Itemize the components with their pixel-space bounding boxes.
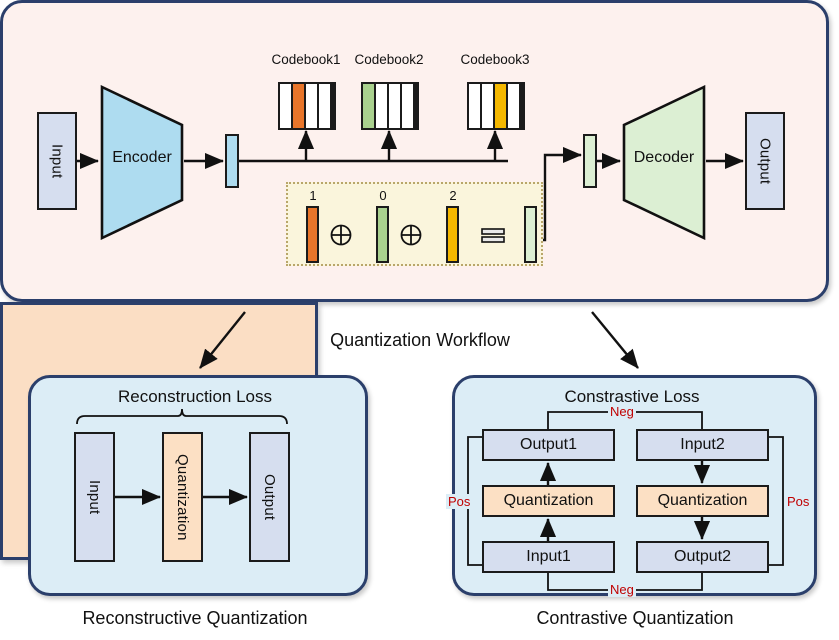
encoder-label: Encoder [100, 149, 184, 167]
pos-tag-right: Pos [785, 494, 811, 509]
decoder-label: Decoder [622, 149, 706, 167]
codebook2-slot [376, 84, 387, 128]
contrast-input2-label: Input2 [680, 436, 724, 454]
recon-quantization-label: Quantization [174, 454, 191, 541]
neg-tag-bottom: Neg [608, 582, 636, 597]
codebook2-slot [389, 84, 400, 128]
code-number-3: 2 [443, 188, 463, 203]
codebook2-slot [402, 84, 413, 128]
contrast-output2-label: Output2 [674, 548, 731, 566]
codebook1-slot [280, 84, 291, 128]
contrast-output1-box: Output1 [482, 429, 615, 461]
diagram-canvas: Encoder Decoder Input Output Codebook1 C… [0, 0, 839, 640]
decoder-block: Decoder [622, 85, 706, 240]
codebook2-title: Codebook2 [342, 52, 436, 67]
pos-tag-left: Pos [446, 494, 472, 509]
code-bar-2 [376, 206, 389, 263]
codebook1-slot [306, 84, 317, 128]
recon-quantization-box: Quantization [162, 432, 203, 562]
combined-code-bar [524, 206, 537, 263]
codebook1-slot [319, 84, 330, 128]
recon-input-label: Input [86, 480, 103, 514]
codebook3-grid [467, 82, 525, 130]
neg-tag-top: Neg [608, 404, 636, 419]
codebook3-title: Codebook3 [448, 52, 542, 67]
workflow-input-label: Input [49, 144, 66, 178]
workflow-input-box: Input [37, 112, 77, 210]
contrast-quantization1-box: Quantization [482, 485, 615, 517]
workflow-output-label: Output [757, 138, 774, 184]
recon-output-box: Output [249, 432, 290, 562]
reconstructive-caption: Reconstructive Quantization [30, 608, 360, 629]
workflow-output-box: Output [745, 112, 785, 210]
contrast-input1-box: Input1 [482, 541, 615, 573]
contrast-quantization2-label: Quantization [658, 492, 748, 510]
contrast-output2-box: Output2 [636, 541, 769, 573]
contrast-quantization1-label: Quantization [504, 492, 594, 510]
workflow-caption: Quantization Workflow [280, 330, 560, 351]
code-bar-3 [446, 206, 459, 263]
encoder-block: Encoder [100, 85, 184, 240]
contrastive-caption: Contrastive Quantization [460, 608, 810, 629]
recon-input-box: Input [74, 432, 115, 562]
encoder-latent-bar [225, 134, 239, 188]
code-number-2: 0 [373, 188, 393, 203]
code-number-1: 1 [303, 188, 323, 203]
codebook2-slot [363, 84, 374, 128]
codebook2-grid [361, 82, 419, 130]
contrast-output1-label: Output1 [520, 436, 577, 454]
code-combination-region [286, 182, 543, 266]
decoder-latent-bar [583, 134, 597, 188]
codebook3-slot [482, 84, 493, 128]
codebook1-title: Codebook1 [259, 52, 353, 67]
codebook1-grid [278, 82, 336, 130]
codebook3-slot [495, 84, 506, 128]
codebook3-slot [508, 84, 519, 128]
codebook3-slot [469, 84, 480, 128]
code-bar-1 [306, 206, 319, 263]
contrast-quantization2-box: Quantization [636, 485, 769, 517]
contrast-input1-label: Input1 [526, 548, 570, 566]
reconstruction-loss-title: Reconstruction Loss [48, 387, 342, 407]
contrast-input2-box: Input2 [636, 429, 769, 461]
codebook1-slot [293, 84, 304, 128]
recon-output-label: Output [261, 474, 278, 520]
